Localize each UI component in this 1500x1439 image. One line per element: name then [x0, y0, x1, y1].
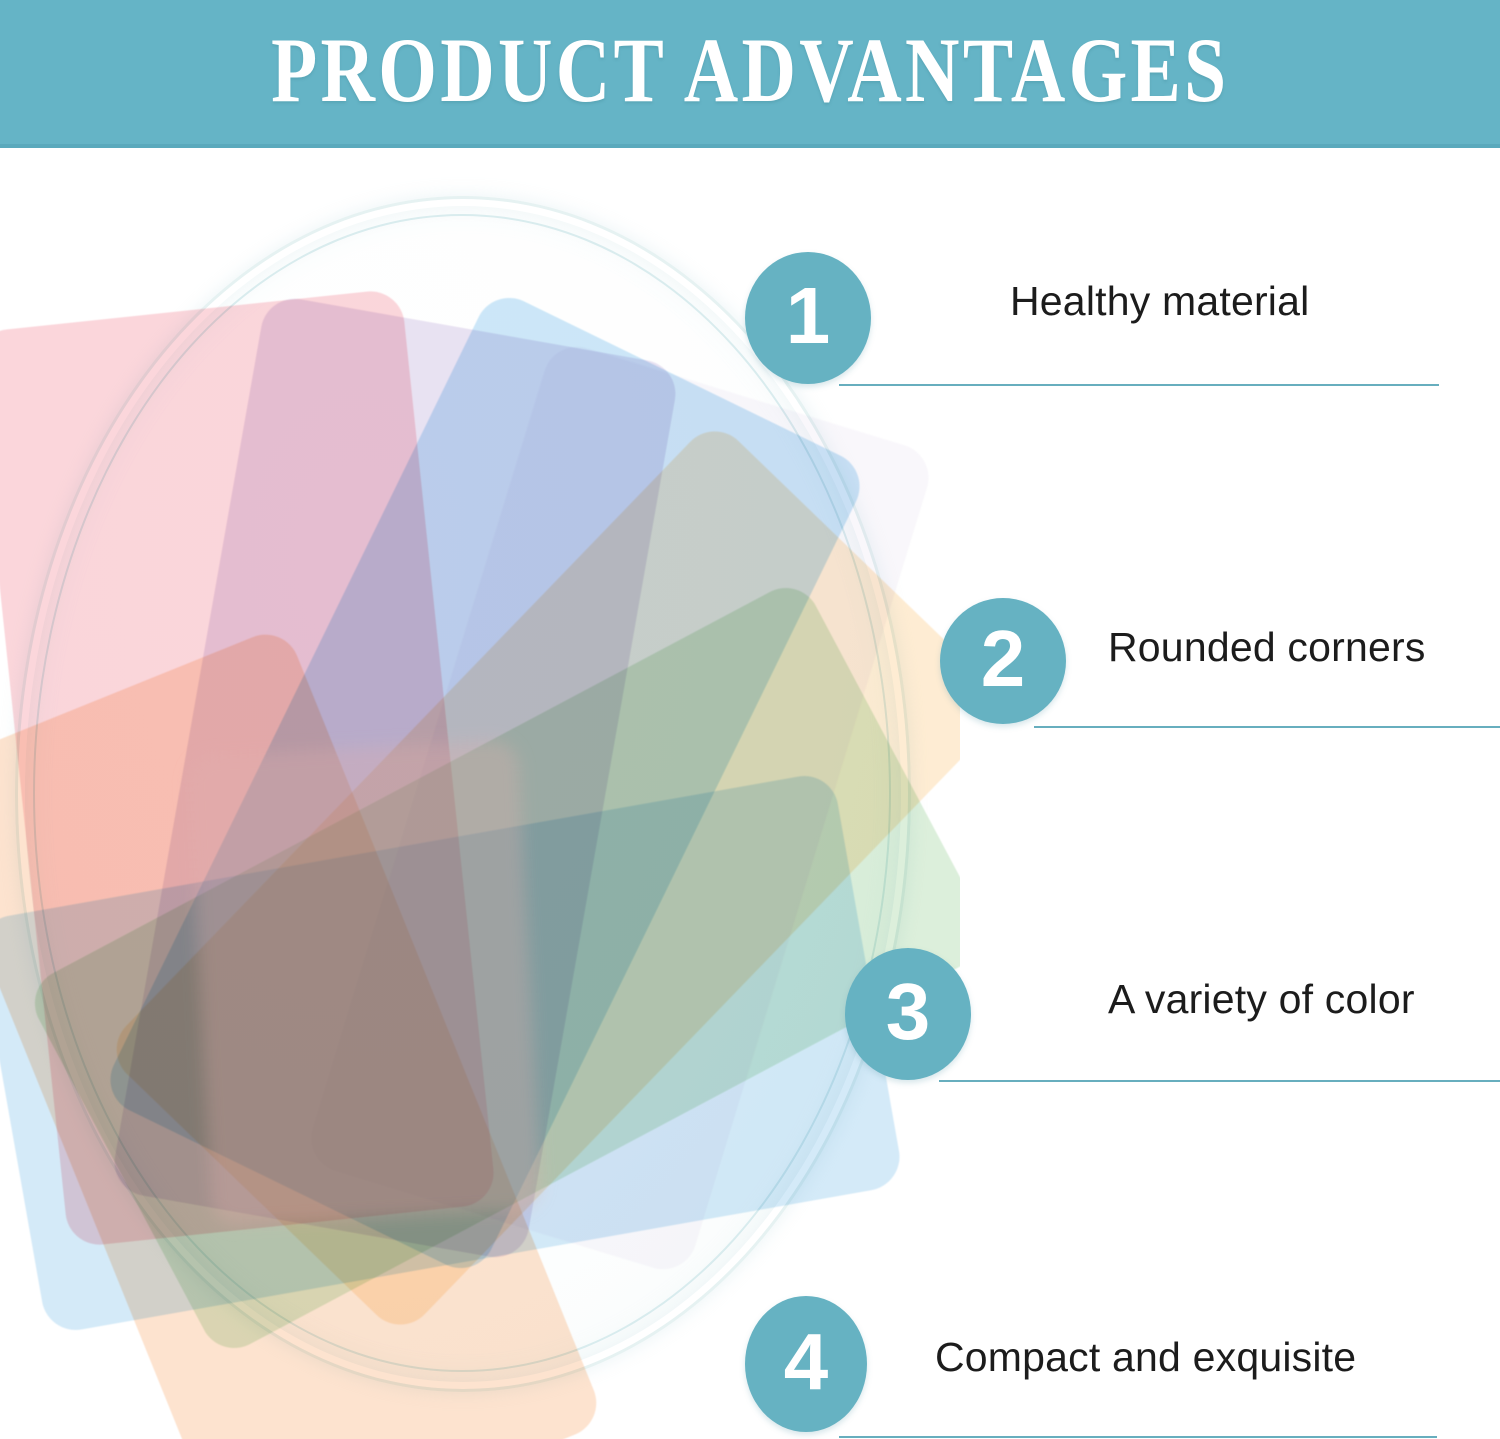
advantage-number-badge-3: 3: [845, 948, 971, 1080]
product-advantages-infographic: PRODUCT ADVANTAGES 1 Healthy material: [0, 0, 1500, 1439]
advantage-number-badge-4: 4: [745, 1296, 867, 1432]
advantage-number-4: 4: [784, 1322, 829, 1402]
header-banner: PRODUCT ADVANTAGES: [0, 0, 1500, 148]
advantage-number-2: 2: [981, 619, 1026, 699]
advantages-list: 1 Healthy material 2 Rounded corners 3 A…: [740, 148, 1500, 1439]
card-stack-highlight: [188, 740, 542, 1227]
advantage-underline-4: [839, 1436, 1437, 1438]
advantage-label-1: Healthy material: [1010, 278, 1309, 325]
advantage-number-3: 3: [886, 972, 931, 1052]
advantage-label-2: Rounded corners: [1108, 624, 1426, 671]
advantage-number-1: 1: [786, 276, 831, 356]
advantage-number-badge-1: 1: [745, 252, 871, 384]
page-title: PRODUCT ADVANTAGES: [271, 24, 1229, 116]
advantage-number-badge-2: 2: [940, 598, 1066, 724]
advantage-underline-1: [839, 384, 1439, 386]
advantage-underline-3: [939, 1080, 1500, 1082]
advantage-underline-2: [1034, 726, 1500, 728]
advantage-label-3: A variety of color: [1108, 976, 1415, 1023]
advantage-label-4: Compact and exquisite: [935, 1334, 1356, 1381]
